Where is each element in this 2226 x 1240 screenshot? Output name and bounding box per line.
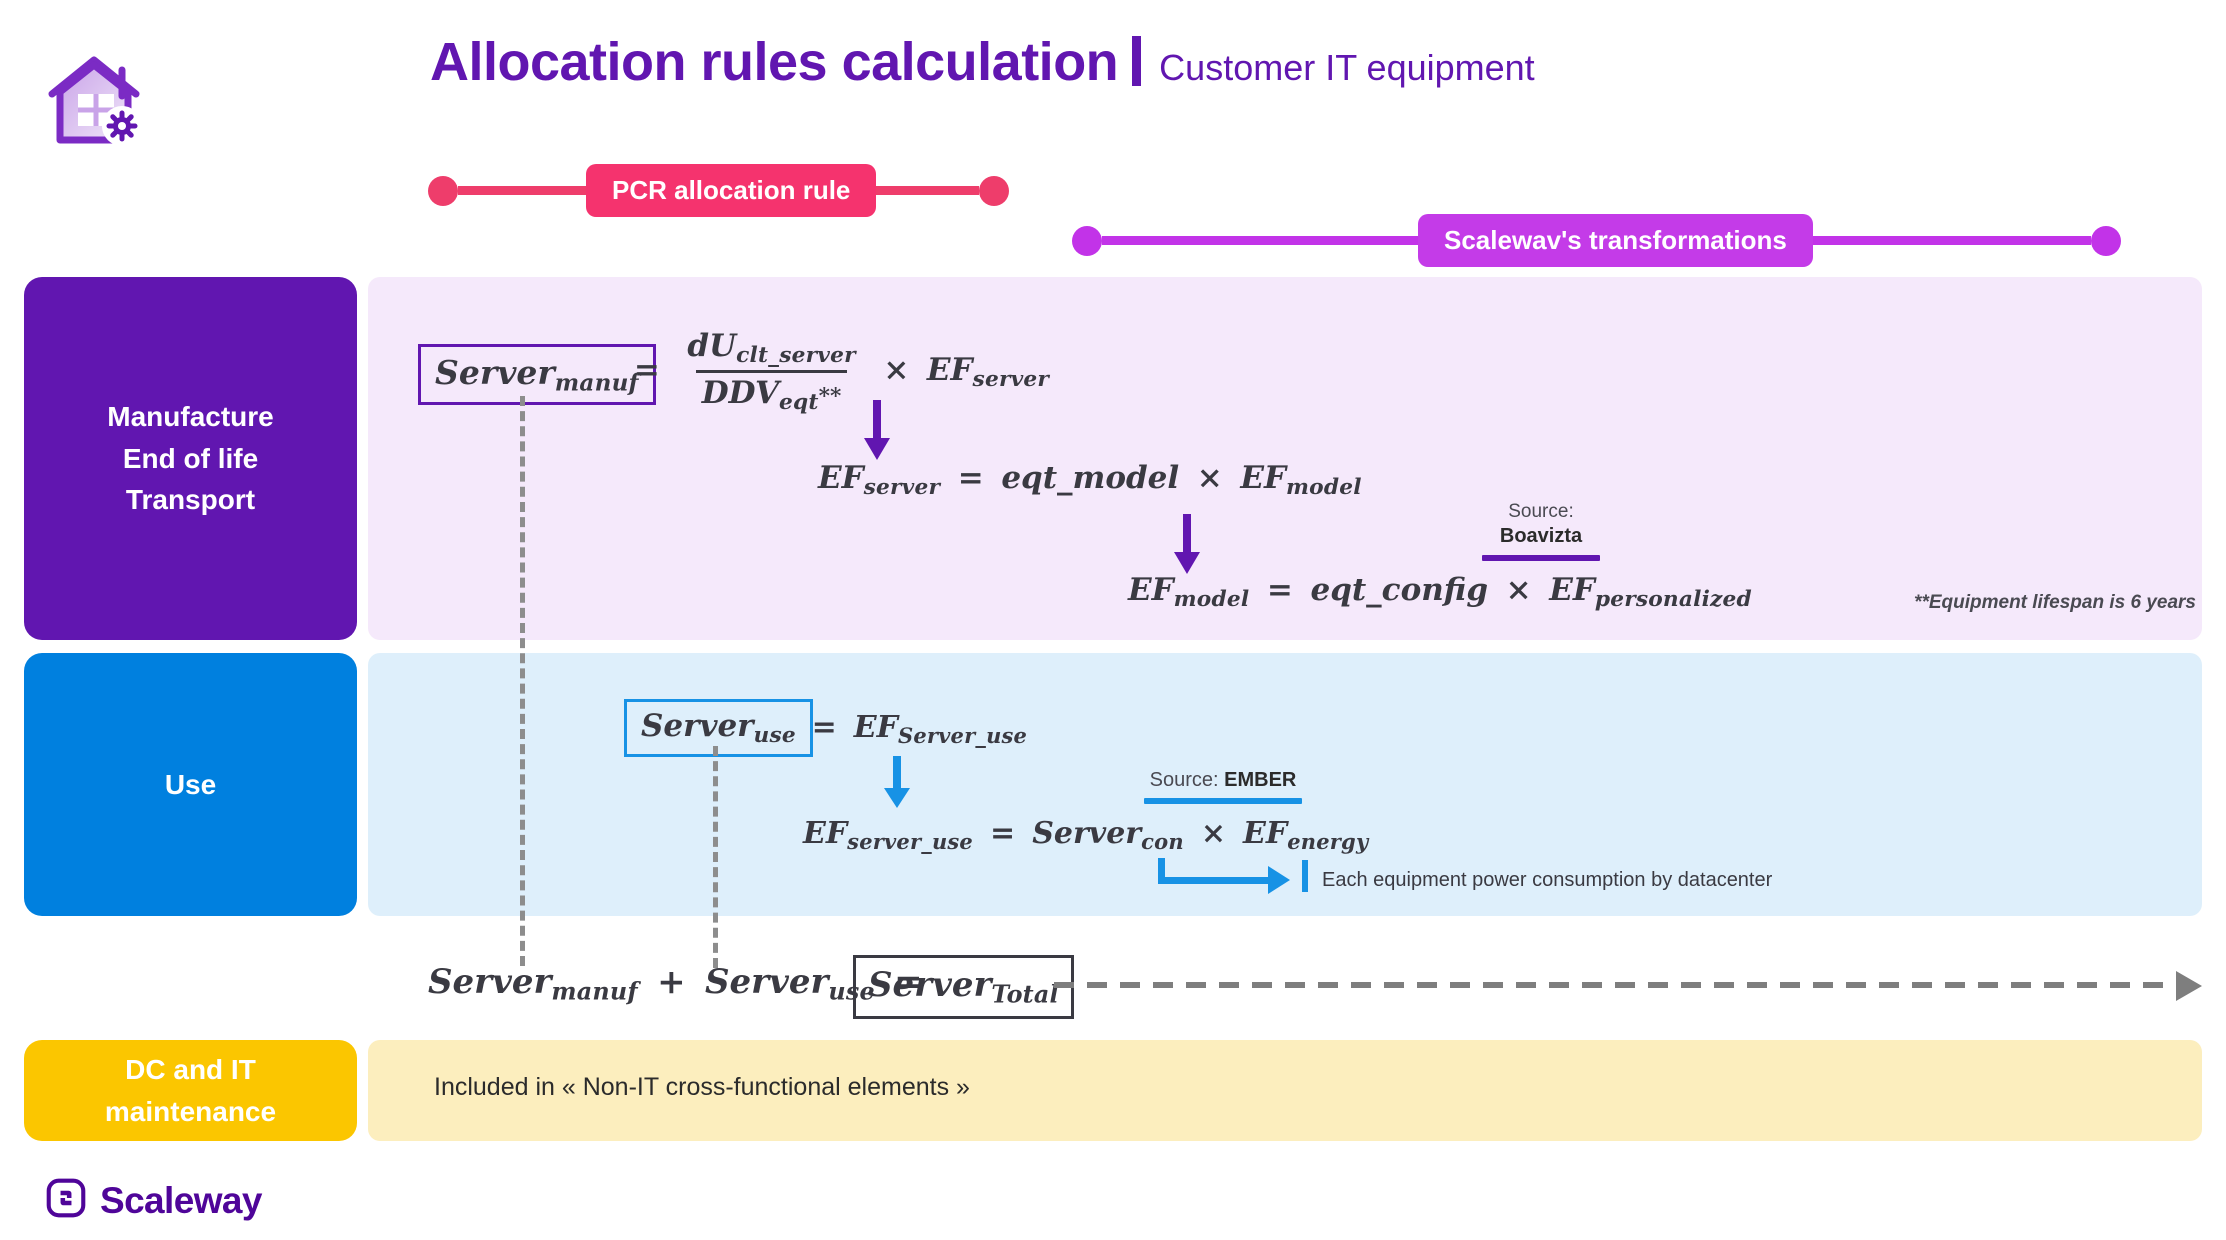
- phase-label-dc-maintenance: DC and IT maintenance: [24, 1040, 357, 1141]
- formula-term-base: DDV: [702, 375, 779, 411]
- source-label: Source:: [1482, 500, 1600, 524]
- formula-equals: =: [951, 460, 991, 496]
- formula-term-sub: clt_server: [736, 343, 856, 368]
- formula-term-base: EF: [818, 460, 864, 496]
- timeline-line-left: [458, 186, 586, 195]
- phase-label-line: Transport: [126, 479, 255, 520]
- phase-label-use: Use: [24, 653, 357, 916]
- formula-term-base: EF: [927, 352, 973, 388]
- scaleway-logo-text: Scaleway: [100, 1180, 262, 1222]
- formula-term-sub: use: [754, 723, 796, 748]
- source-boavizta: Source: Boavizta: [1482, 500, 1600, 561]
- title-main: Allocation rules calculation: [430, 31, 1118, 93]
- formula-term-base: Server: [868, 965, 991, 1005]
- formula-server-manuf-boxed: Servermanuf: [418, 344, 656, 405]
- dc-panel-text: Included in « Non-IT cross-functional el…: [434, 1073, 970, 1102]
- formula-equals: =: [1260, 572, 1300, 608]
- formula-server-total-boxed: ServerTotal: [853, 955, 1074, 1019]
- arrow-head: [864, 438, 890, 460]
- formula-manufacture-rhs: = dUclt_server DDVeqt** × EFserver: [627, 328, 1049, 415]
- formula-use-rhs: = EFServer_use: [805, 710, 1027, 748]
- formula-term-base: Server: [1032, 816, 1141, 851]
- timeline-scalewav-transformations: Scalewav's transformations: [1072, 214, 2121, 267]
- formula-term-sub: personalized: [1595, 587, 1752, 612]
- formula-term-base: EF: [803, 816, 847, 851]
- timeline-label-scalewav: Scalewav's transformations: [1418, 214, 1813, 267]
- source-name: EMBER: [1224, 769, 1296, 791]
- formula-term-base: EF: [1549, 572, 1595, 608]
- source-ember: Source: EMBER: [1144, 769, 1302, 804]
- formula-term-sub: model: [1286, 475, 1362, 500]
- formula-times: ×: [877, 352, 917, 388]
- slide-canvas: Allocation rules calculation Customer IT…: [0, 0, 2226, 1240]
- timeline-end-dot: [2091, 226, 2121, 256]
- source-label: Source: EMBER: [1144, 769, 1302, 792]
- arrow-head: [1268, 866, 1290, 894]
- formula-term-sub: con: [1141, 829, 1184, 854]
- formula-factor: eqt_config: [1310, 572, 1488, 608]
- source-underline: [1482, 555, 1600, 561]
- formula-term-sub: server: [973, 367, 1049, 392]
- formula-term-sub: energy: [1287, 829, 1368, 854]
- phase-label-line: Use: [165, 764, 216, 805]
- formula-plus: +: [650, 962, 693, 1002]
- formula-term-sub: eqt: [779, 390, 819, 415]
- formula-term-base: Server: [705, 962, 828, 1002]
- timeline-pcr-allocation-rule: PCR allocation rule: [428, 164, 1009, 217]
- formula-fraction: dUclt_server DDVeqt**: [681, 328, 861, 415]
- formula-term-sub: manuf: [551, 978, 637, 1006]
- formula-term-base: dU: [687, 328, 736, 364]
- arrow-head: [884, 788, 910, 808]
- title-subtitle: Customer IT equipment: [1159, 47, 1535, 89]
- formula-footnote-marker: **: [819, 384, 842, 409]
- formula-term-base: EF: [1240, 460, 1286, 496]
- formula-equals: =: [627, 352, 667, 388]
- formula-term-base: EF: [1243, 816, 1287, 851]
- arrow-shaft: [873, 400, 881, 438]
- title-divider-icon: [1132, 36, 1141, 86]
- house-gear-icon: [42, 48, 150, 148]
- formula-times: ×: [1190, 460, 1230, 496]
- phase-label-line: DC and IT: [125, 1049, 256, 1090]
- phase-label-line: maintenance: [105, 1091, 276, 1132]
- timeline-label-pcr: PCR allocation rule: [586, 164, 876, 217]
- formula-ef-server: EFserver = eqt_model × EFmodel: [818, 460, 1362, 500]
- formula-fraction-denominator: DDVeqt**: [696, 370, 848, 415]
- phase-label-manufacture: Manufacture End of life Transport: [24, 277, 357, 640]
- dashed-guide-use: [713, 746, 718, 968]
- formula-ef-server-use: EFserver_use = Servercon × EFenergy: [803, 816, 1368, 854]
- arrow-shaft: [1183, 514, 1191, 552]
- formula-term-base: EF: [1128, 572, 1174, 608]
- page-title: Allocation rules calculation Customer IT…: [430, 30, 1535, 93]
- formula-term-sub: Server_use: [898, 723, 1027, 748]
- formula-equals: =: [805, 710, 843, 745]
- formula-times: ×: [1194, 816, 1232, 851]
- dashed-arrow-head: [2176, 971, 2202, 1001]
- arrow-shaft: [893, 756, 901, 788]
- annotation-power-consumption: Each equipment power consumption by data…: [1322, 869, 1772, 892]
- scaleway-logo-icon: [46, 1178, 86, 1223]
- timeline-line-right: [876, 186, 979, 195]
- timeline-end-dot: [979, 176, 1009, 206]
- formula-factor: eqt_model: [1001, 460, 1179, 496]
- formula-term-base: Server: [428, 962, 551, 1002]
- formula-term-base: Server: [641, 708, 754, 744]
- scaleway-logo: Scaleway: [46, 1178, 262, 1223]
- source-underline: [1144, 798, 1302, 804]
- formula-fraction-numerator: dUclt_server: [681, 328, 861, 370]
- formula-term-sub: server: [864, 475, 940, 500]
- timeline-line-left: [1102, 236, 1418, 245]
- phase-label-line: Manufacture: [107, 396, 273, 437]
- formula-term-sub: model: [1174, 587, 1250, 612]
- formula-term-sub: server_use: [847, 829, 973, 854]
- arrow-head: [1174, 552, 1200, 574]
- dashed-arrow-total: [1054, 982, 2182, 988]
- elbow-arrow-power-consumption: [1158, 858, 1308, 896]
- arrow-shaft-horizontal: [1158, 877, 1270, 884]
- dashed-guide-manuf: [520, 396, 525, 966]
- source-prefix: Source:: [1150, 769, 1224, 791]
- formula-term-sub: Total: [991, 981, 1058, 1009]
- timeline-line-right: [1813, 236, 2091, 245]
- timeline-start-dot: [428, 176, 458, 206]
- annotation-separator-bar: [1302, 860, 1308, 892]
- formula-equals: =: [983, 816, 1021, 851]
- formula-server-use-boxed: Serveruse: [624, 699, 813, 757]
- formula-term-base: EF: [854, 710, 898, 745]
- timeline-start-dot: [1072, 226, 1102, 256]
- formula-times: ×: [1499, 572, 1539, 608]
- phase-label-line: End of life: [123, 438, 258, 479]
- formula-term-base: Server: [435, 353, 555, 392]
- formula-ef-model: EFmodel = eqt_config × EFpersonalized: [1128, 572, 1752, 612]
- source-name: Boavizta: [1482, 524, 1600, 549]
- footnote-equipment-lifespan: **Equipment lifespan is 6 years: [1914, 592, 2196, 614]
